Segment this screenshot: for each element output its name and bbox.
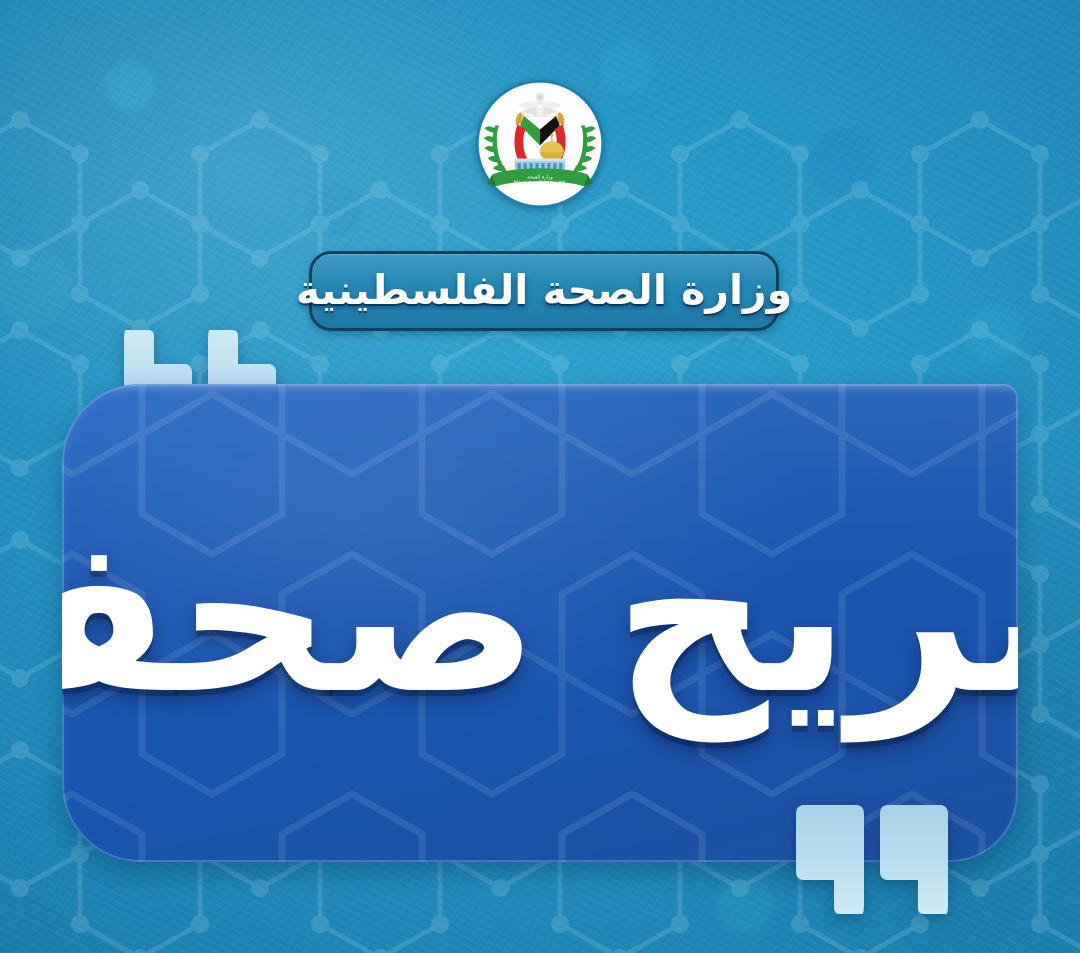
ministry-name-badge: وزارة الصحة الفلسطينية [309,251,779,331]
emblem-ribbon-arabic: وزارة الصحة [527,174,553,180]
press-statement-poster: وزارة الصحة Ministry Of Health وزارة الص… [0,0,1080,953]
ministry-of-health-emblem: وزارة الصحة Ministry Of Health [474,78,606,210]
ministry-name-label: وزارة الصحة الفلسطينية [296,270,792,311]
press-statement-card: تصريح صحفي [62,384,1018,862]
emblem-ribbon-english: Ministry Of Health [514,181,566,187]
press-statement-headline: تصريح صحفي [62,384,1018,854]
closing-quotation-mark [782,802,954,914]
